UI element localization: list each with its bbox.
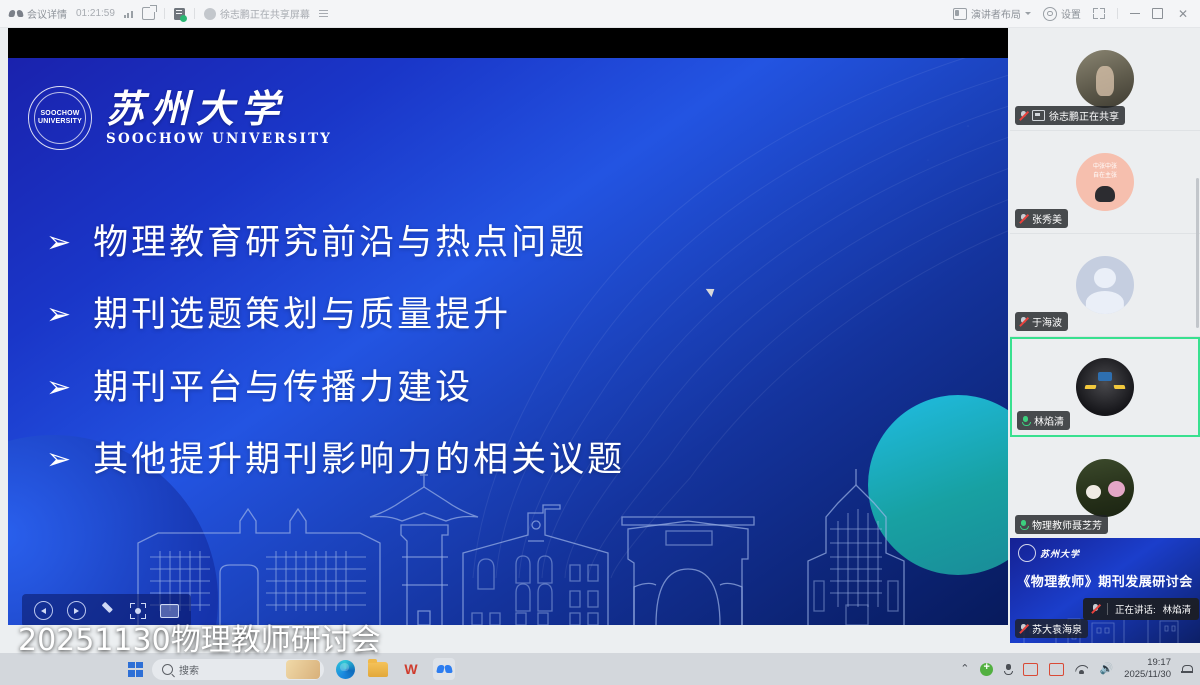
speaking-name: 林焰清 (1163, 602, 1192, 616)
sharing-status: 徐志鹏正在共享屏幕 (204, 6, 310, 21)
participant-name-badge: 林焰清 (1017, 411, 1070, 430)
edge-browser-icon (336, 660, 355, 679)
avatar-figure (1095, 186, 1115, 202)
participant-tile-active-speaker[interactable]: 林焰清 (1010, 337, 1200, 437)
avatar-flower (1086, 485, 1101, 499)
close-icon[interactable]: ✕ (1175, 6, 1191, 22)
taskbar-app-wps[interactable]: W (399, 657, 423, 681)
university-seal-icon (1018, 544, 1036, 562)
bullet-text: 物理教育研究前沿与热点问题 (93, 223, 587, 263)
notification-bell-icon[interactable] (1182, 664, 1191, 675)
popout-window-icon[interactable] (142, 7, 155, 20)
self-name-badge: 苏大袁海泉 (1015, 619, 1088, 638)
sharing-status-label: 徐志鹏正在共享屏幕 (220, 6, 310, 21)
settings-button[interactable]: 设置 (1043, 6, 1081, 21)
seal-text: SOOCHOW UNIVERSITY (29, 110, 91, 126)
mic-muted-icon (1019, 623, 1028, 634)
avatar (1076, 358, 1134, 416)
minimize-icon[interactable] (1130, 13, 1140, 14)
university-seal-icon: SOOCHOW UNIVERSITY (28, 86, 92, 150)
bullet-arrow-icon: ➢ (46, 300, 71, 330)
participant-tile[interactable]: 徐志鹏正在共享 (1010, 28, 1200, 131)
avatar (1076, 50, 1134, 108)
tencent-meeting-icon (433, 658, 455, 680)
fullscreen-icon[interactable] (1093, 8, 1105, 19)
self-preview-tile[interactable]: 苏州大学 《物理教师》期刊发展研讨会 苏大袁海泉 正在讲话: (1010, 538, 1200, 643)
speaking-tooltip: 正在讲话: 林焰清 (1083, 598, 1199, 620)
bullet-text: 期刊选题策划与质量提升 (93, 295, 511, 335)
bullet-text: 期刊平台与传播力建设 (93, 368, 473, 408)
avatar-eye (1114, 385, 1126, 389)
participant-name: 林焰清 (1034, 413, 1064, 428)
participant-name-badge: 徐志鹏正在共享 (1015, 106, 1125, 125)
avatar (1076, 256, 1134, 314)
settings-label: 设置 (1061, 6, 1081, 21)
network-adapter-icon[interactable] (1023, 663, 1038, 676)
divider (1107, 603, 1108, 615)
participant-name: 徐志鹏正在共享 (1049, 108, 1119, 123)
meeting-top-bar: 会议详情 01:21:59 徐志鹏正在共享屏幕 演讲者布局 设置 (0, 0, 1200, 28)
mic-muted-icon (1019, 110, 1028, 121)
university-name-cn: 苏州大学 (1040, 547, 1080, 560)
bullet-arrow-icon: ➢ (46, 228, 71, 258)
chevron-down-icon (1025, 12, 1031, 15)
taskbar-app-file-explorer[interactable] (366, 657, 390, 681)
recording-overlay-title: 20251130物理教师研讨会 (18, 615, 381, 659)
tencent-meeting-icon (9, 9, 23, 18)
list-item: ➢ 期刊平台与传播力建设 (46, 368, 948, 408)
taskbar-app-edge[interactable] (333, 657, 357, 681)
folder-icon (368, 662, 388, 677)
maximize-icon[interactable] (1152, 8, 1163, 19)
meeting-notes-icon[interactable] (174, 8, 185, 20)
avatar-flower (1108, 481, 1125, 497)
taskbar-app-tencent-meeting[interactable] (432, 657, 456, 681)
search-placeholder: 搜索 (179, 662, 199, 677)
windows-start-icon[interactable] (128, 662, 143, 677)
mic-active-icon (1019, 519, 1028, 530)
scrollbar-thumb[interactable] (1196, 178, 1199, 328)
wifi-icon[interactable] (1075, 665, 1088, 674)
divider (164, 8, 165, 19)
avatar-eye (1085, 385, 1097, 389)
mic-muted-icon (1019, 316, 1028, 327)
participant-name: 张秀美 (1032, 211, 1062, 226)
presentation-slide: SOOCHOW UNIVERSITY 苏州大学 SOOCHOW UNIVERSI… (8, 58, 1008, 625)
more-list-icon[interactable] (319, 10, 328, 18)
self-name: 苏大袁海泉 (1032, 621, 1082, 636)
mic-muted-icon (1091, 604, 1100, 615)
layout-label: 演讲者布局 (971, 6, 1021, 21)
list-item: ➢ 物理教育研究前沿与热点问题 (46, 223, 948, 263)
volume-icon[interactable]: 🔊 (1099, 664, 1113, 675)
clock-date: 2025/11/30 (1124, 669, 1171, 681)
preview-slide-title: 《物理教师》期刊发展研讨会 (1010, 571, 1200, 590)
participant-tile[interactable]: 于海波 (1010, 234, 1200, 337)
university-name-en: SOOCHOW UNIVERSITY (106, 131, 332, 147)
speaker-layout-button[interactable]: 演讲者布局 (953, 6, 1031, 21)
avatar-caption: 中张中张自在主张 (1076, 163, 1134, 181)
bullet-arrow-icon: ➢ (46, 373, 71, 403)
search-highlight-thumbnail (286, 660, 320, 679)
university-logo: SOOCHOW UNIVERSITY 苏州大学 SOOCHOW UNIVERSI… (28, 86, 332, 150)
university-name-cn: 苏州大学 (106, 89, 332, 129)
wps-office-icon: W (404, 662, 417, 676)
divider (194, 8, 195, 19)
microphone-icon[interactable] (1004, 664, 1012, 675)
show-hidden-icons-icon[interactable]: ⌃ (960, 664, 969, 675)
avatar-visor (1098, 372, 1112, 381)
screen-share-icon (1032, 110, 1045, 121)
participant-tile[interactable]: 物理教师聂芝芳 (1010, 437, 1200, 540)
participant-strip[interactable]: 徐志鹏正在共享 中张中张自在主张 张秀美 于海波 (1010, 28, 1200, 653)
avatar (1076, 459, 1134, 517)
meeting-details-button[interactable]: 会议详情 (9, 6, 67, 21)
participant-name: 物理教师聂芝芳 (1032, 517, 1102, 532)
list-item: ➢ 期刊选题策划与质量提升 (46, 295, 948, 335)
sharer-avatar (204, 8, 216, 20)
search-icon (162, 664, 173, 675)
participant-tile[interactable]: 中张中张自在主张 张秀美 (1010, 131, 1200, 234)
participant-name-badge: 物理教师聂芝芳 (1015, 515, 1108, 534)
add-status-icon[interactable] (980, 663, 993, 676)
participant-name-badge: 于海波 (1015, 312, 1068, 331)
clock-time: 19:17 (1124, 657, 1171, 669)
participant-name-badge: 张秀美 (1015, 209, 1068, 228)
signal-strength-icon[interactable] (124, 9, 133, 18)
mic-active-icon (1021, 415, 1030, 426)
divider (1117, 8, 1118, 19)
taskbar-clock[interactable]: 19:17 2025/11/30 (1124, 657, 1171, 681)
meeting-details-label: 会议详情 (27, 6, 67, 21)
tencent-meeting-window: 会议详情 01:21:59 徐志鹏正在共享屏幕 演讲者布局 设置 (0, 0, 1200, 685)
gear-icon (1043, 7, 1057, 21)
participant-scrollbar[interactable] (1196, 28, 1200, 653)
recording-app-icon[interactable] (1049, 663, 1064, 676)
meeting-elapsed-time: 01:21:59 (76, 8, 115, 19)
speaking-label: 正在讲话: (1115, 602, 1156, 616)
shared-screen-stage[interactable]: SOOCHOW UNIVERSITY 苏州大学 SOOCHOW UNIVERSI… (8, 28, 1008, 625)
avatar: 中张中张自在主张 (1076, 153, 1134, 211)
preview-university-logo: 苏州大学 (1018, 544, 1080, 562)
search-input[interactable]: 搜索 (152, 659, 324, 680)
speaker-layout-icon (953, 8, 967, 20)
mic-muted-icon (1019, 213, 1028, 224)
participant-name: 于海波 (1032, 314, 1062, 329)
